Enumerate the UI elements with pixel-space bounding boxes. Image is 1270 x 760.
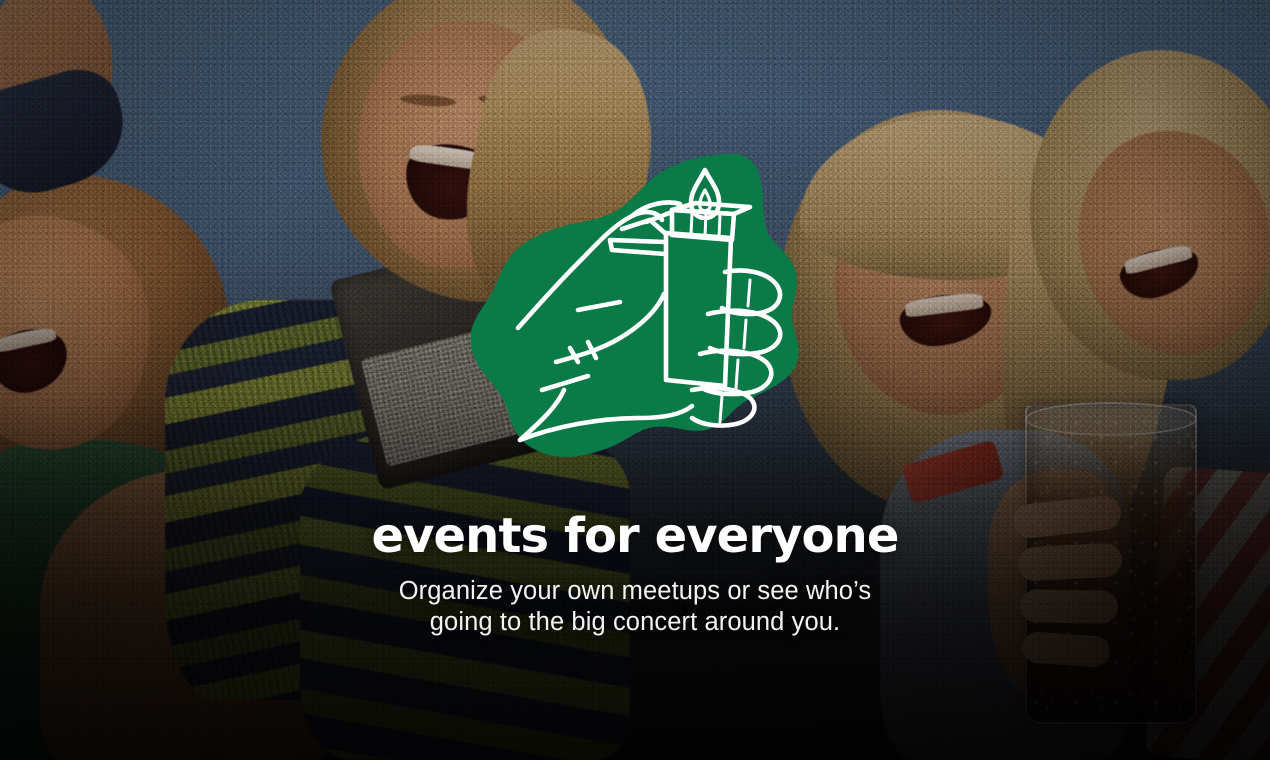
pinky-finger-line (720, 396, 722, 422)
cap-ridge-2 (705, 214, 706, 236)
ring-finger-line (736, 360, 738, 388)
cap-ridge-3 (719, 215, 720, 238)
glass-rim (1025, 402, 1197, 436)
cap-ridge-1 (691, 213, 692, 234)
hero-subtitle-line-1: Organize your own meetups or see who’s (0, 576, 1270, 607)
hinge-plate (610, 240, 665, 242)
hero-subtitle-line-2: going to the big concert around you. (0, 607, 1270, 638)
hero-subtitle: Organize your own meetups or see who’s g… (0, 576, 1270, 638)
middle-finger-line (744, 320, 746, 348)
hero-banner: events for everyone Organize your own me… (0, 0, 1270, 760)
page-title: events for everyone (0, 512, 1270, 560)
hand-holding-lit-lighter-illustration (460, 150, 810, 470)
index-finger-line (748, 280, 750, 306)
hero-copy: events for everyone Organize your own me… (0, 512, 1270, 638)
